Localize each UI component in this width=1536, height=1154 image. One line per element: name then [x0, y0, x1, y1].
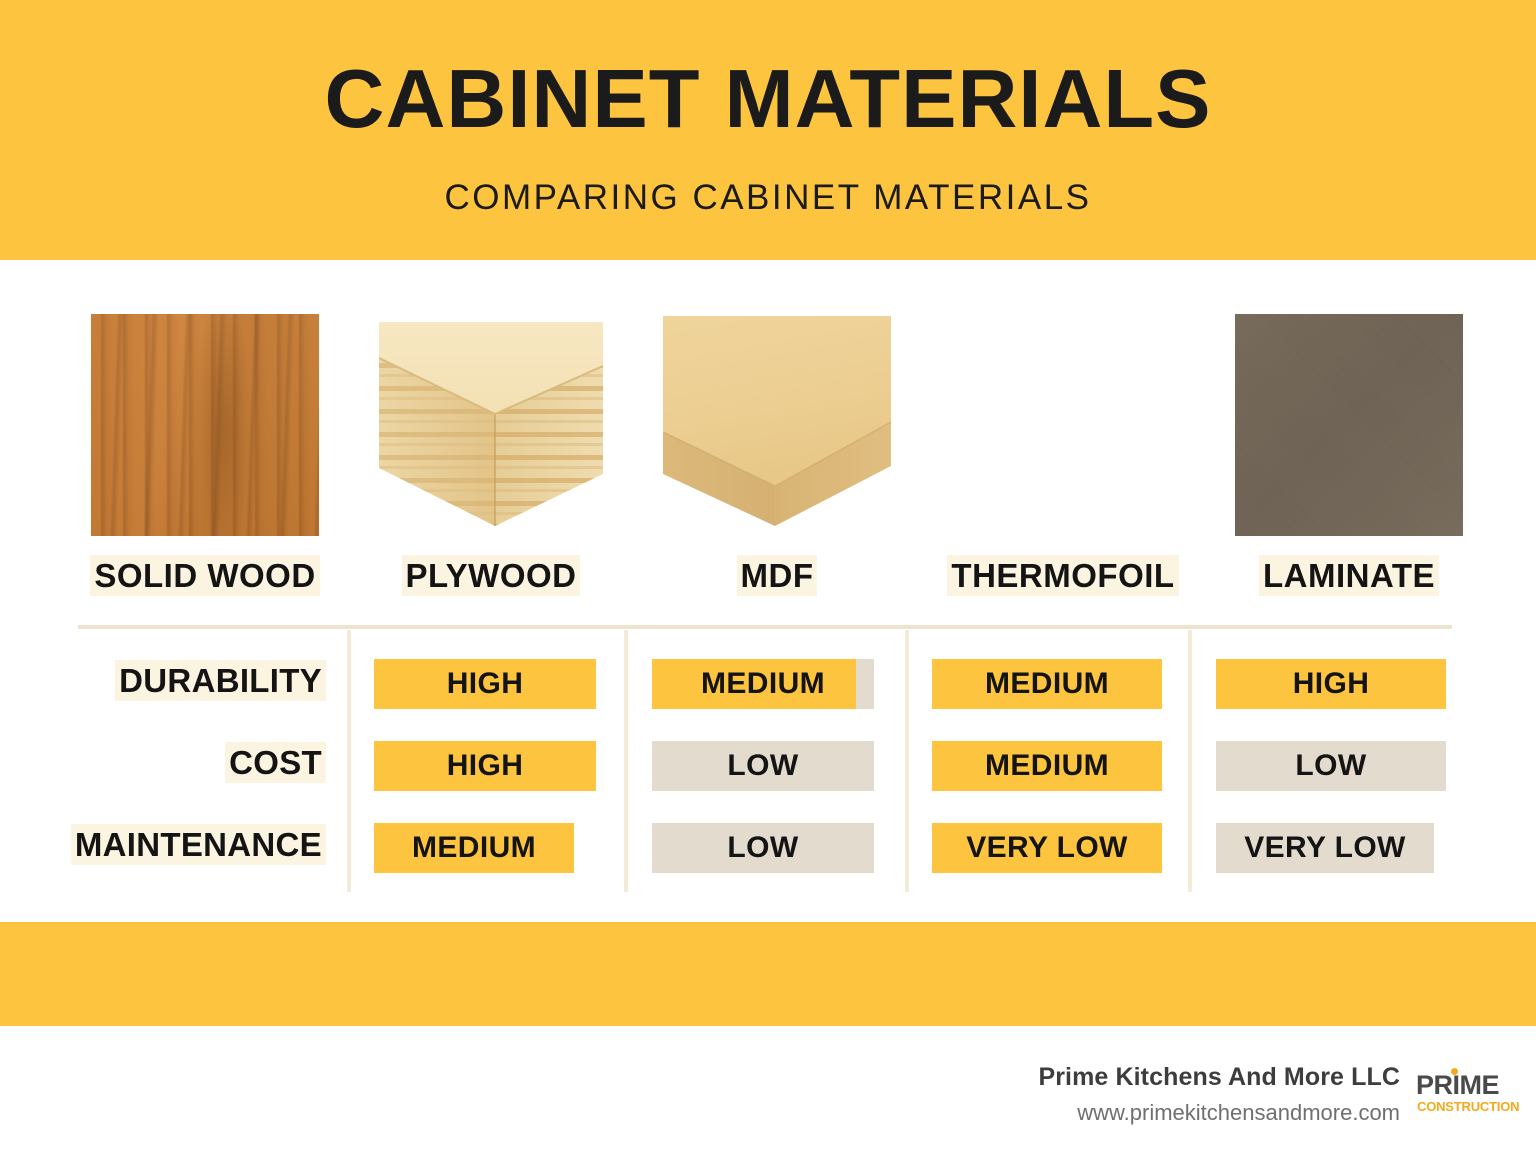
cell-maintenance-laminate: VERY LOW [1216, 823, 1434, 873]
cell-durability-thermofoil: MEDIUM [932, 659, 1162, 709]
swatch-cell-laminate [1206, 300, 1492, 550]
table-top-rule [78, 625, 1452, 629]
material-swatch-row [0, 300, 1536, 550]
swatch-cell-mdf [634, 300, 920, 550]
row-label-durability-text: DURABILITY [115, 660, 326, 701]
cell-durability-thermofoil-text: MEDIUM [932, 659, 1162, 709]
material-label-plywood: PLYWOOD [348, 554, 634, 598]
swatch-cell-solid-wood [62, 300, 348, 550]
page-subtitle: COMPARING CABINET MATERIALS [0, 178, 1536, 218]
row-label-durability: DURABILITY [36, 662, 326, 700]
logo-wordmark: PRIME [1416, 1070, 1499, 1100]
laminate-texture-swatch [1235, 314, 1463, 536]
row-label-maintenance: MAINTENANCE [36, 826, 326, 864]
swatch-cell-plywood [348, 300, 634, 550]
cell-durability-plywood-text: HIGH [374, 659, 596, 709]
cell-maintenance-laminate-text: VERY LOW [1216, 823, 1434, 873]
column-divider-1 [347, 630, 351, 892]
cell-durability-mdf: MEDIUM [652, 659, 874, 709]
swatch-cell-thermofoil [920, 300, 1206, 550]
cell-maintenance-thermofoil: VERY LOW [932, 823, 1162, 873]
cell-cost-mdf: LOW [652, 741, 874, 791]
material-label-laminate-text: LAMINATE [1259, 555, 1439, 596]
cell-cost-mdf-text: LOW [652, 741, 874, 791]
mdf-panel-corner-swatch [663, 314, 891, 536]
column-divider-3 [905, 630, 909, 892]
cell-durability-plywood: HIGH [374, 659, 596, 709]
material-label-thermofoil: THERMOFOIL [920, 554, 1206, 598]
logo-tagline: CONSTRUCTION [1417, 1099, 1519, 1114]
material-label-thermofoil-text: THERMOFOIL [947, 555, 1178, 596]
brand-website[interactable]: www.primekitchensandmore.com [1077, 1100, 1400, 1126]
row-label-cost-text: COST [225, 742, 326, 783]
cell-maintenance-thermofoil-text: VERY LOW [932, 823, 1162, 873]
cell-cost-thermofoil: MEDIUM [932, 741, 1162, 791]
material-label-solid-wood-text: SOLID WOOD [90, 555, 319, 596]
infographic-poster: CABINET MATERIALS COMPARING CABINET MATE… [0, 0, 1536, 1154]
page-title: CABINET MATERIALS [0, 55, 1536, 142]
cell-cost-plywood-text: HIGH [374, 741, 596, 791]
cell-durability-mdf-text: MEDIUM [652, 659, 874, 709]
cell-maintenance-plywood: MEDIUM [374, 823, 574, 873]
material-label-laminate: LAMINATE [1206, 554, 1492, 598]
solid-wood-texture-swatch [91, 314, 319, 536]
material-label-mdf-text: MDF [737, 555, 818, 596]
material-label-plywood-text: PLYWOOD [402, 555, 581, 596]
column-divider-4 [1188, 630, 1192, 892]
column-divider-2 [624, 630, 628, 892]
cell-cost-plywood: HIGH [374, 741, 596, 791]
row-label-maintenance-text: MAINTENANCE [71, 824, 326, 865]
row-label-cost: COST [36, 744, 326, 782]
cell-durability-laminate: HIGH [1216, 659, 1446, 709]
material-name-row: SOLID WOOD PLYWOOD MDF THERMOFOIL LAMINA… [0, 554, 1536, 606]
cell-maintenance-mdf: LOW [652, 823, 874, 873]
cell-maintenance-plywood-text: MEDIUM [374, 823, 574, 873]
cell-cost-laminate: LOW [1216, 741, 1446, 791]
cell-cost-laminate-text: LOW [1216, 741, 1446, 791]
material-label-solid-wood: SOLID WOOD [62, 554, 348, 598]
material-label-mdf: MDF [634, 554, 920, 598]
prime-construction-logo: PRIME CONSTRUCTION [1412, 1068, 1520, 1120]
cell-maintenance-mdf-text: LOW [652, 823, 874, 873]
brand-name: Prime Kitchens And More LLC [1038, 1063, 1400, 1092]
footer-band [0, 922, 1536, 1026]
cell-durability-laminate-text: HIGH [1216, 659, 1446, 709]
plywood-corner-swatch [377, 314, 605, 536]
thermofoil-missing-swatch [949, 314, 1177, 536]
cell-cost-thermofoil-text: MEDIUM [932, 741, 1162, 791]
